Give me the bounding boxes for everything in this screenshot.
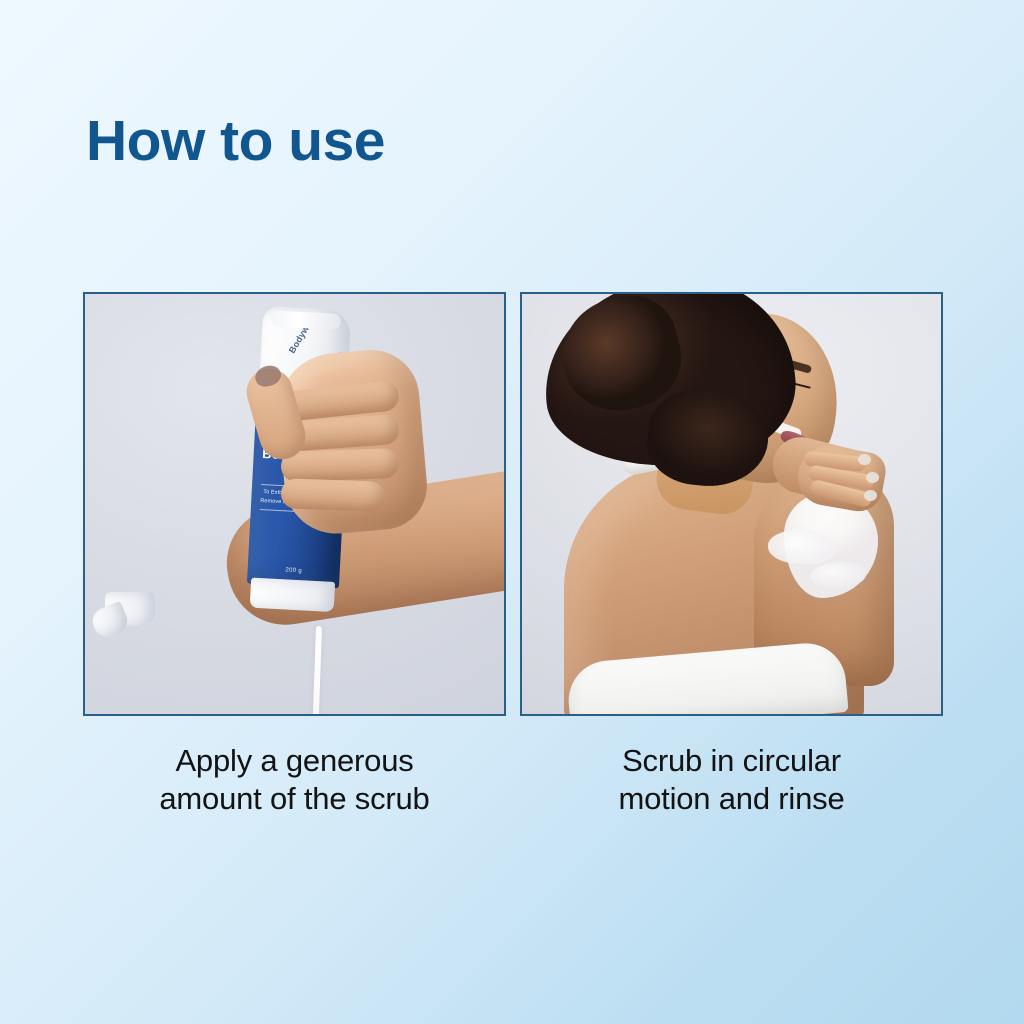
grip-finger — [281, 448, 400, 482]
step-2-photo-panel — [520, 292, 943, 716]
step-2-caption: Scrub in circular motion and rinse — [520, 742, 943, 818]
grip-finger — [281, 478, 386, 512]
step-2-caption-line-1: Scrub in circular — [520, 742, 943, 780]
step-2-caption-line-2: motion and rinse — [520, 780, 943, 818]
step-1-caption-line-1: Apply a generous — [83, 742, 506, 780]
step-1-photo-panel: Bodywise 10% AHA Body Scrub To Exfoliate… — [83, 292, 506, 716]
tube-brand-label: Bodywise — [287, 312, 318, 355]
page-title: How to use — [86, 112, 385, 172]
tube-shoulder — [250, 578, 335, 612]
step-1-caption-line-2: amount of the scrub — [83, 780, 506, 818]
fingernail — [864, 490, 877, 501]
steps-panel-row: Bodywise 10% AHA Body Scrub To Exfoliate… — [83, 292, 943, 716]
step-1-caption: Apply a generous amount of the scrub — [83, 742, 506, 818]
fingernail — [858, 454, 871, 465]
scrub-smear — [768, 530, 834, 564]
tube-net-weight: 200 g — [248, 565, 340, 576]
how-to-use-poster: How to use Bodywise 10% AHA Body Scrub — [0, 0, 1024, 1024]
fingernail — [866, 472, 879, 483]
captions-row: Apply a generous amount of the scrub Scr… — [83, 742, 943, 818]
